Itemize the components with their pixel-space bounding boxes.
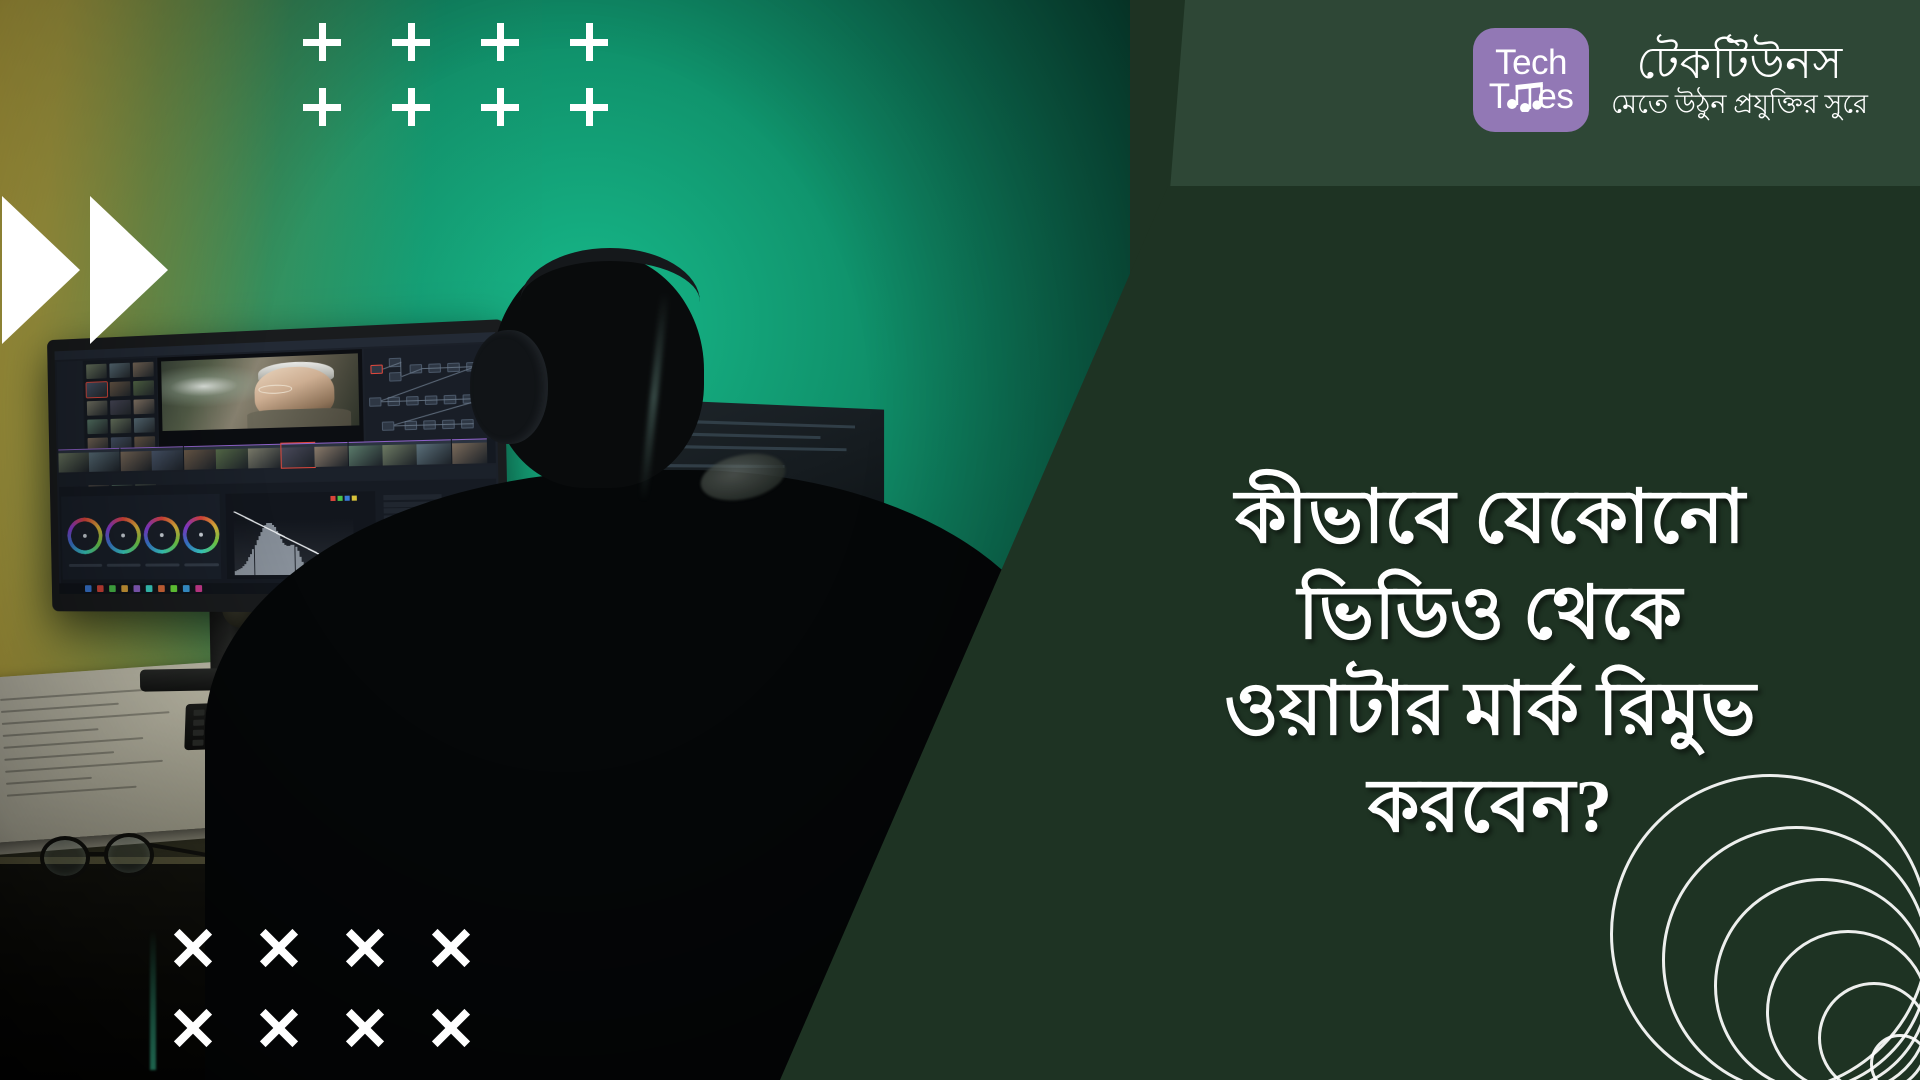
plus-icon (408, 23, 415, 61)
headline-line-2: ভিডিও থেকে (1120, 566, 1860, 662)
logo-text-line1: Tech (1495, 46, 1567, 80)
thumbnail-canvas: Tech T es টেকটিউনস মেতে (0, 0, 1920, 1080)
x-icon (256, 1005, 302, 1051)
brand-lockup: Tech T es টেকটিউনস মেতে (1473, 28, 1868, 132)
plus-icon (586, 23, 593, 61)
plus-icon (319, 88, 326, 126)
headline-line-4: করবেন? (1120, 759, 1860, 855)
brand-text-block: টেকটিউনস মেতে উঠুন প্রযুক্তির সুরে (1611, 40, 1868, 120)
logo-text-line2: T es (1489, 79, 1574, 114)
x-icon (428, 925, 474, 971)
brand-name: টেকটিউনস (1611, 40, 1868, 87)
music-notes-icon (1506, 82, 1554, 112)
x-icon (256, 925, 302, 971)
x-icon (342, 925, 388, 971)
plus-icon (586, 88, 593, 126)
plus-icon (497, 88, 504, 126)
x-icon (170, 1005, 216, 1051)
x-icon (342, 1005, 388, 1051)
chevron-notch (0, 196, 40, 344)
headline-line-1: কীভাবে যেকোনো (1120, 470, 1860, 566)
plus-icon (319, 23, 326, 61)
headline: কীভাবে যেকোনো ভিডিও থেকে ওয়াটার মার্ক র… (1120, 470, 1860, 855)
logo-badge[interactable]: Tech T es (1473, 28, 1589, 132)
x-icon (428, 1005, 474, 1051)
plus-icon (408, 88, 415, 126)
x-icon (170, 925, 216, 971)
headline-line-3: ওয়াটার মার্ক রিমুভ (1120, 662, 1860, 758)
plus-icon (497, 23, 504, 61)
chevron-notch (50, 196, 128, 344)
brand-tagline: মেতে উঠুন প্রযুক্তির সুরে (1611, 89, 1868, 120)
